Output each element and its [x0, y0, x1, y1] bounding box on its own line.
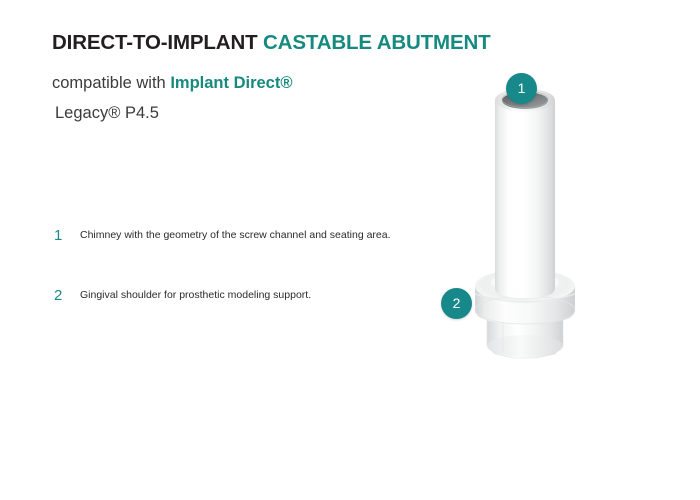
legend-number-1: 1 [54, 228, 80, 244]
legend-text-2: Gingival shoulder for prosthetic modelin… [80, 288, 311, 303]
page-title-primary: DIRECT-TO-IMPLANT [52, 31, 257, 54]
list-item: 1 Chimney with the geometry of the screw… [54, 228, 454, 244]
compatibility-prefix: compatible with [52, 74, 166, 92]
feature-legend: 1 Chimney with the geometry of the screw… [54, 228, 454, 348]
legend-number-2: 2 [54, 288, 80, 304]
list-item: 2 Gingival shoulder for prosthetic model… [54, 288, 454, 304]
callout-badge-2[interactable]: 2 [441, 288, 472, 319]
product-sheet-page: DIRECT-TO-IMPLANT CASTABLE ABUTMENT comp… [0, 0, 700, 500]
header-block: DIRECT-TO-IMPLANT CASTABLE ABUTMENT comp… [52, 30, 452, 124]
product-illustration [425, 58, 625, 378]
chimney-cylinder [495, 100, 555, 298]
legend-text-1: Chimney with the geometry of the screw c… [80, 228, 391, 243]
callout-badge-1[interactable]: 1 [506, 73, 537, 104]
compatibility-line: compatible with Implant Direct® [52, 72, 452, 94]
page-title-secondary: CASTABLE ABUTMENT [263, 31, 491, 54]
compatibility-brand: Implant Direct® [170, 74, 292, 92]
compatibility-model: Legacy® P4.5 [55, 102, 452, 124]
page-title: DIRECT-TO-IMPLANT CASTABLE ABUTMENT [52, 30, 452, 56]
